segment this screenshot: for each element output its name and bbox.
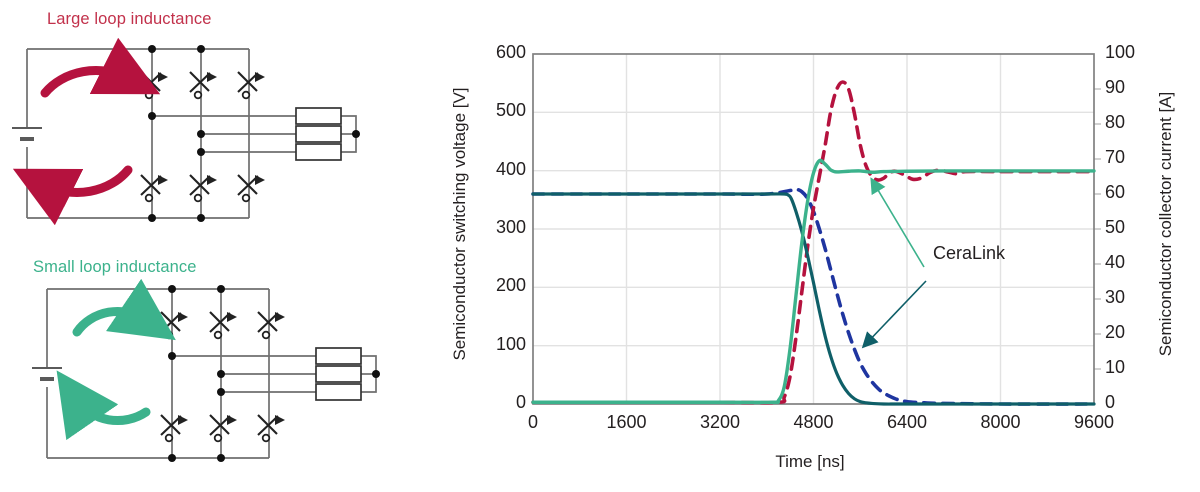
y-axis-right-tick: 80 [1105,112,1161,133]
x-axis-title: Time [ns] [530,452,1090,472]
y-axis-right-tick: 40 [1105,252,1161,273]
y-axis-right-tick: 20 [1105,322,1161,343]
y-axis-left-tick: 100 [470,334,526,355]
circuit-diagrams-svg [0,0,420,487]
large-loop-circuit [12,45,360,222]
figure-root: Large loop inductance Small loop inducta… [0,0,1200,487]
ceralink-arrow-current [872,180,924,267]
y-axis-right-tick: 30 [1105,287,1161,308]
x-axis-tick: 1600 [592,412,662,433]
x-axis-tick: 3200 [685,412,755,433]
x-axis-tick: 6400 [872,412,942,433]
large-loop-arrow-top [45,71,128,93]
y-axis-left-title: Semiconductor switching voltage [V] [450,44,470,404]
x-axis-tick: 9600 [1059,412,1129,433]
y-axis-left-tick: 600 [470,42,526,63]
chart-tickmarks [1094,89,1101,369]
small-loop-arrow-bottom [77,400,146,421]
y-axis-right-tick: 90 [1105,77,1161,98]
x-axis-tick: 4800 [779,412,849,433]
y-axis-right-tick: 10 [1105,357,1161,378]
y-axis-left-tick: 0 [470,392,526,413]
y-axis-right-tick: 60 [1105,182,1161,203]
x-axis-tick: 0 [498,412,568,433]
x-axis-tick: 8000 [966,412,1036,433]
y-axis-left-tick: 200 [470,275,526,296]
circuit-diagrams-panel: Large loop inductance Small loop inducta… [0,0,420,487]
y-axis-left-tick: 400 [470,159,526,180]
chart-annotation-arrows [864,180,926,346]
small-loop-circuit [32,285,380,462]
waveform-chart-panel: Semiconductor switching voltage [V] Semi… [420,0,1200,487]
y-axis-left-tick: 300 [470,217,526,238]
y-axis-right-tick: 50 [1105,217,1161,238]
y-axis-left-tick: 500 [470,100,526,121]
chart-gridlines [533,54,1094,404]
ceralink-arrow-voltage [864,281,926,346]
y-axis-right-tick: 70 [1105,147,1161,168]
y-axis-right-tick: 100 [1105,42,1161,63]
ceralink-annotation-label: CeraLink [933,243,1005,264]
large-loop-arrow-bottom [45,170,128,192]
small-loop-arrow-top [77,311,146,332]
y-axis-right-tick: 0 [1105,392,1161,413]
